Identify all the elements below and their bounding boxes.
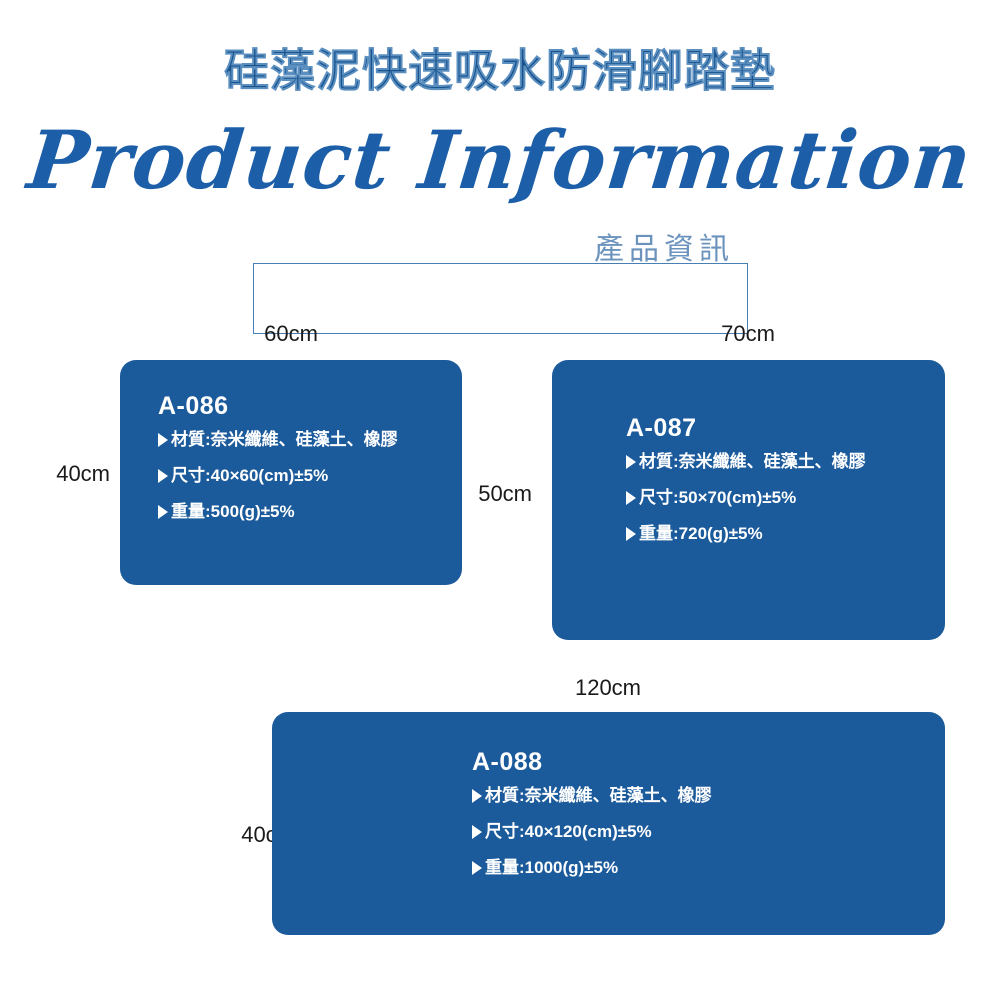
spec-weight-a088: 重量:1000(g)±5% [472,859,712,877]
triangle-right-icon [472,861,482,875]
script-heading-text: Product Information [0,120,1000,200]
product-information-infographic: 硅藻泥快速吸水防滑腳踏墊 Product Information 產品資訊 60… [0,0,1000,1000]
spec-material-a087-text: 材質:奈米纖維、硅藻土、橡膠 [639,453,866,471]
spec-material-a088: 材質:奈米纖維、硅藻土、橡膠 [472,787,712,805]
spec-size-a087-text: 尺寸:50×70(cm)±5% [639,489,796,507]
spec-material-a086-text: 材質:奈米纖維、硅藻土、橡膠 [171,431,398,449]
triangle-right-icon [626,491,636,505]
spec-weight-a087-text: 重量:720(g)±5% [639,525,763,543]
spec-weight-a086: 重量:500(g)±5% [158,503,398,521]
spec-size-a088: 尺寸:40×120(cm)±5% [472,823,712,841]
dimension-label-width-a087: 70cm [598,321,898,347]
triangle-right-icon [158,469,168,483]
subtitle-chinese: 產品資訊 [464,224,864,268]
dimension-label-height-a086: 40cm [10,461,110,487]
triangle-right-icon [158,433,168,447]
triangle-right-icon [626,527,636,541]
spec-material-a086: 材質:奈米纖維、硅藻土、橡膠 [158,431,398,449]
spec-weight-a087: 重量:720(g)±5% [626,525,866,543]
spec-size-a087: 尺寸:50×70(cm)±5% [626,489,866,507]
dimension-label-width-a088: 120cm [458,675,758,701]
product-code-a086: A-086 [158,392,398,421]
dimension-label-width-a086: 60cm [141,321,441,347]
product-card-a088-content: A-088 材質:奈米纖維、硅藻土、橡膠 尺寸:40×120(cm)±5% 重量… [472,748,712,877]
spec-weight-a086-text: 重量:500(g)±5% [171,503,295,521]
product-card-a088: A-088 材質:奈米纖維、硅藻土、橡膠 尺寸:40×120(cm)±5% 重量… [272,712,945,935]
product-card-a087-content: A-087 材質:奈米纖維、硅藻土、橡膠 尺寸:50×70(cm)±5% 重量:… [626,414,866,543]
product-code-a088: A-088 [472,748,712,777]
product-card-a087: A-087 材質:奈米纖維、硅藻土、橡膠 尺寸:50×70(cm)±5% 重量:… [552,360,945,640]
spec-size-a086-text: 尺寸:40×60(cm)±5% [171,467,328,485]
dimension-label-height-a087: 50cm [432,481,532,507]
triangle-right-icon [158,505,168,519]
triangle-right-icon [626,455,636,469]
product-code-a087: A-087 [626,414,866,443]
spec-material-a087: 材質:奈米纖維、硅藻土、橡膠 [626,453,866,471]
spec-weight-a088-text: 重量:1000(g)±5% [485,859,618,877]
triangle-right-icon [472,789,482,803]
spec-material-a088-text: 材質:奈米纖維、硅藻土、橡膠 [485,787,712,805]
triangle-right-icon [472,825,482,839]
product-card-a086: A-086 材質:奈米纖維、硅藻土、橡膠 尺寸:40×60(cm)±5% 重量:… [120,360,462,585]
product-card-a086-content: A-086 材質:奈米纖維、硅藻土、橡膠 尺寸:40×60(cm)±5% 重量:… [158,392,398,521]
spec-size-a086: 尺寸:40×60(cm)±5% [158,467,398,485]
page-title: 硅藻泥快速吸水防滑腳踏墊 [0,34,1000,99]
spec-size-a088-text: 尺寸:40×120(cm)±5% [485,823,652,841]
